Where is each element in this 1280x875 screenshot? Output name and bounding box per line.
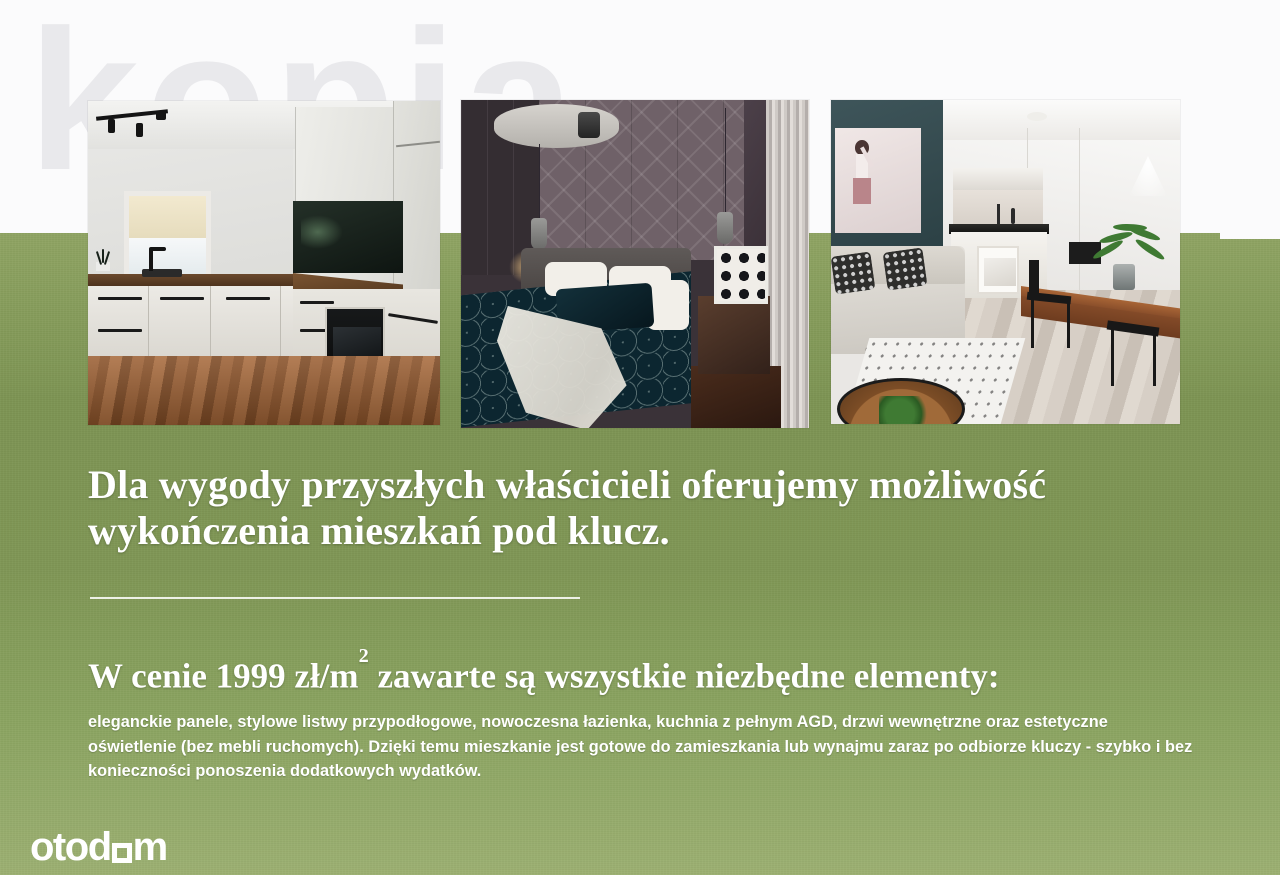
green-panel-notch xyxy=(1220,233,1280,239)
kitchen-faucet xyxy=(149,249,153,271)
living-kitchen-upper-cabinet xyxy=(953,168,1043,190)
bedroom-pendant-cord xyxy=(539,144,540,222)
kitchen-backsplash-reflection xyxy=(301,215,343,249)
kitchen-cabinet-door-line xyxy=(148,286,149,364)
body-copy: eleganckie panele, stylowe listwy przypo… xyxy=(88,710,1193,784)
living-throw-pillow xyxy=(883,247,928,290)
bedroom-drum-pendant-light xyxy=(494,104,619,148)
price-unit-superscript: 2 xyxy=(359,645,369,667)
photo-bedroom xyxy=(461,100,809,428)
photo-kitchen-scene xyxy=(88,101,440,425)
kitchen-drawer-handle xyxy=(226,297,270,300)
kitchen-spotlight xyxy=(156,111,166,120)
kitchen-plant xyxy=(94,249,112,271)
price-amount: 1999 xyxy=(216,657,286,696)
headline: Dla wygody przyszłych właścicieli oferuj… xyxy=(88,462,1188,554)
bedroom-floor xyxy=(691,366,781,428)
living-dining-chair-leg xyxy=(1067,300,1070,348)
section-divider xyxy=(90,597,580,599)
flyer-root: kopia xyxy=(0,0,1280,875)
living-throw-pillow xyxy=(831,251,875,294)
living-wall-seam xyxy=(1079,128,1080,290)
living-dining-chair-back xyxy=(1029,260,1039,300)
kitchen-countertop-left xyxy=(88,274,303,286)
bedroom-wall-art xyxy=(714,246,768,304)
living-kitchen-faucet-head xyxy=(1011,208,1015,224)
bedroom-pendant-small-right xyxy=(717,212,733,244)
price-unit: zł/m xyxy=(286,657,359,696)
photo-bedroom-scene xyxy=(461,100,809,428)
photo-kitchen xyxy=(88,101,440,425)
logo-text-part1: otod xyxy=(30,827,111,867)
photo-living-dining xyxy=(831,100,1180,424)
kitchen-drawer-handle xyxy=(98,329,142,332)
kitchen-wood-floor xyxy=(88,356,440,425)
kitchen-spotlight xyxy=(108,119,115,133)
price-suffix: zawarte są wszystkie niezbędne elementy: xyxy=(369,657,1000,696)
logo-text-part2: m xyxy=(133,827,167,867)
living-ceiling-light xyxy=(1027,112,1047,121)
kitchen-window xyxy=(124,191,211,281)
kitchen-drawer-handle xyxy=(98,297,142,300)
bedroom-pendant-bulb xyxy=(578,112,600,138)
logo-square-glyph xyxy=(112,843,132,863)
living-plant-leaves xyxy=(1089,218,1167,276)
bedroom-pendant-small-left xyxy=(531,218,547,250)
living-dining-chair-leg xyxy=(1153,330,1156,386)
kitchen-sink xyxy=(142,269,182,277)
living-table-plant xyxy=(879,396,931,424)
kitchen-cabinet-door-line xyxy=(210,286,211,364)
living-oven-glass xyxy=(984,258,1016,286)
living-plant-leaf xyxy=(1134,237,1166,263)
kitchen-window-blind xyxy=(129,196,206,238)
kitchen-faucet-spout xyxy=(149,247,166,251)
living-dining-chair-leg xyxy=(1031,300,1034,348)
kitchen-backsplash xyxy=(293,201,403,273)
kitchen-spotlight xyxy=(136,123,143,137)
kitchen-floor-shading xyxy=(88,356,440,425)
bedroom-nightstand xyxy=(698,296,770,374)
otodom-logo[interactable]: otod m xyxy=(30,827,167,867)
price-line: W cenie 1999 zł/m2 zawarte są wszystkie … xyxy=(88,648,1218,698)
kitchen-drawer-handle xyxy=(160,297,204,300)
living-art-figure-skirt xyxy=(853,178,871,204)
price-prefix: W cenie xyxy=(88,657,216,696)
living-kitchen-oven xyxy=(977,246,1019,294)
bedroom-pendant-cord xyxy=(725,108,726,214)
kitchen-drawer-handle xyxy=(300,301,334,304)
living-art-figure xyxy=(849,140,875,214)
living-wall-art xyxy=(835,128,921,233)
living-kitchen-faucet xyxy=(997,204,1000,224)
photo-living-scene xyxy=(831,100,1180,424)
kitchen-cabinet-door-line xyxy=(280,286,281,364)
living-dining-chair-leg xyxy=(1111,330,1114,386)
